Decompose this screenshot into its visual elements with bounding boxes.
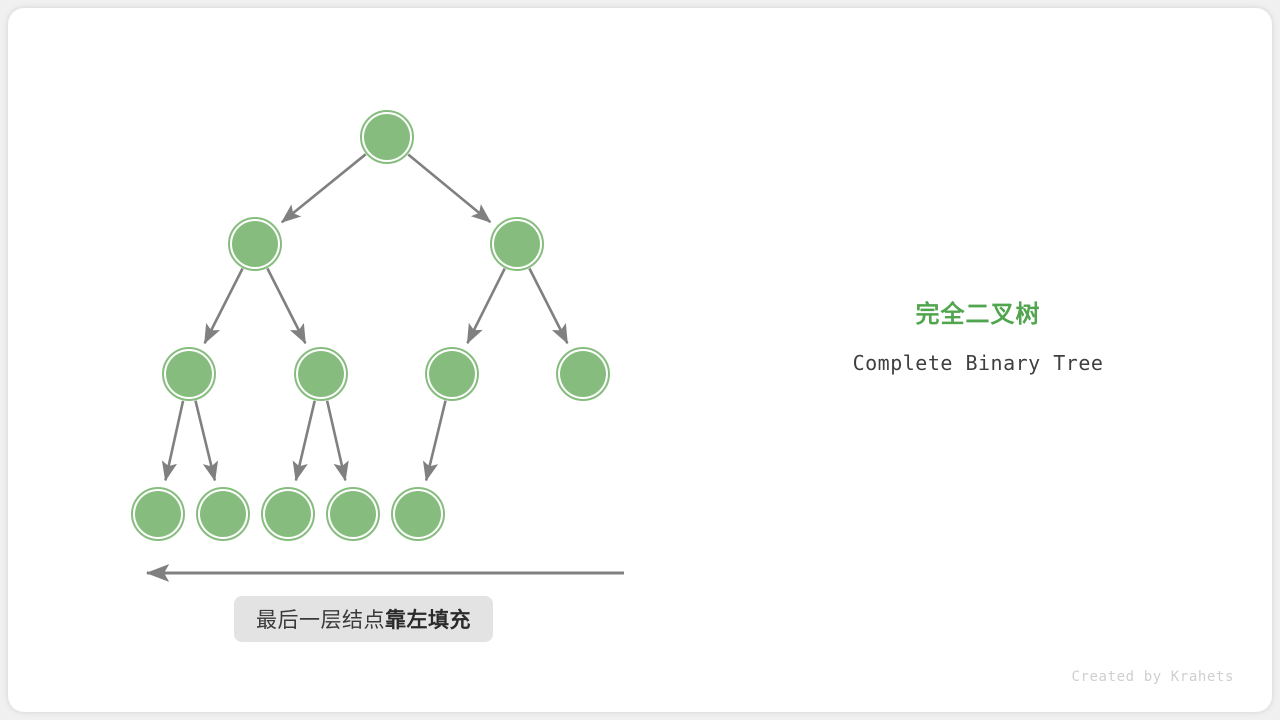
node-fill xyxy=(135,491,181,537)
tree-nodes xyxy=(132,111,609,540)
tree-node xyxy=(229,218,281,270)
footer-credit: Created by Krahets xyxy=(1071,669,1234,685)
tree-edge xyxy=(267,269,305,344)
tree-edge xyxy=(205,269,243,344)
tree-node xyxy=(327,488,379,540)
node-fill xyxy=(560,351,606,397)
tree-edge xyxy=(529,269,567,344)
tree-edge xyxy=(327,401,345,481)
tree-node xyxy=(392,488,444,540)
node-fill xyxy=(298,351,344,397)
caption-chip: 最后一层结点靠左填充 xyxy=(234,596,493,642)
screenshot-canvas: 完全二叉树 Complete Binary Tree 最后一层结点靠左填充 Cr… xyxy=(0,0,1280,720)
tree-node xyxy=(197,488,249,540)
tree-node xyxy=(361,111,413,163)
tree-edge xyxy=(426,401,445,481)
node-fill xyxy=(429,351,475,397)
tree-edge xyxy=(195,401,214,481)
tree-node xyxy=(262,488,314,540)
tree-edge xyxy=(165,401,183,480)
tree-edge xyxy=(282,154,366,222)
tree-node xyxy=(557,348,609,400)
title-block: 完全二叉树 Complete Binary Tree xyxy=(798,300,1158,376)
tree-node xyxy=(163,348,215,400)
node-fill xyxy=(364,114,410,160)
node-fill xyxy=(166,351,212,397)
node-fill xyxy=(265,491,311,537)
tree-edges xyxy=(165,154,567,480)
node-fill xyxy=(232,221,278,267)
page-title-en: Complete Binary Tree xyxy=(798,350,1158,376)
tree-node xyxy=(295,348,347,400)
tree-node xyxy=(426,348,478,400)
diagram-card: 完全二叉树 Complete Binary Tree 最后一层结点靠左填充 Cr… xyxy=(8,8,1272,712)
node-fill xyxy=(330,491,376,537)
node-fill xyxy=(494,221,540,267)
caption-text-normal: 最后一层结点 xyxy=(256,604,385,634)
tree-edge xyxy=(296,401,315,481)
page-title-zh: 完全二叉树 xyxy=(798,300,1158,330)
tree-node xyxy=(491,218,543,270)
tree-node xyxy=(132,488,184,540)
tree-edge xyxy=(467,269,504,344)
node-fill xyxy=(395,491,441,537)
tree-edge xyxy=(408,154,490,222)
caption-text-bold: 靠左填充 xyxy=(385,604,471,634)
node-fill xyxy=(200,491,246,537)
